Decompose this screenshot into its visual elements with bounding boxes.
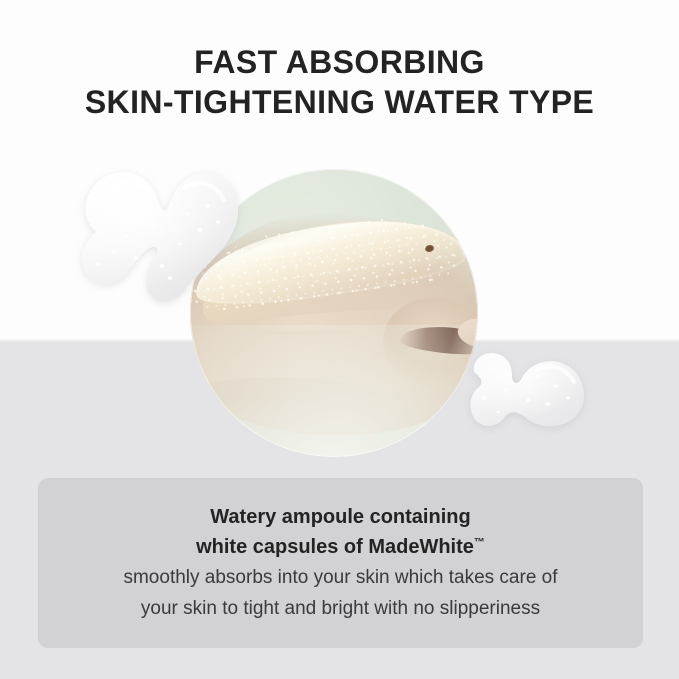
- headline-line-1: FAST ABSORBING: [0, 42, 679, 82]
- headline: FAST ABSORBING SKIN-TIGHTENING WATER TYP…: [0, 42, 679, 122]
- product-detail-panel: FAST ABSORBING SKIN-TIGHTENING WATER TYP…: [0, 0, 679, 679]
- hero-circle-lower-wash: [190, 325, 478, 457]
- description-bold-line-2: white capsules of MadeWhite™: [196, 532, 485, 562]
- description-card: Watery ampoule containing white capsules…: [38, 478, 643, 648]
- description-body-line-2: your skin to tight and bright with no sl…: [141, 593, 540, 624]
- trademark-symbol: ™: [474, 536, 485, 548]
- description-body-line-1: smoothly absorbs into your skin which ta…: [123, 562, 557, 593]
- hero-circle-image: [190, 169, 478, 457]
- description-bold-line-1: Watery ampoule containing: [210, 502, 470, 532]
- description-brand-text: white capsules of MadeWhite: [196, 536, 474, 558]
- headline-line-2: SKIN-TIGHTENING WATER TYPE: [0, 82, 679, 122]
